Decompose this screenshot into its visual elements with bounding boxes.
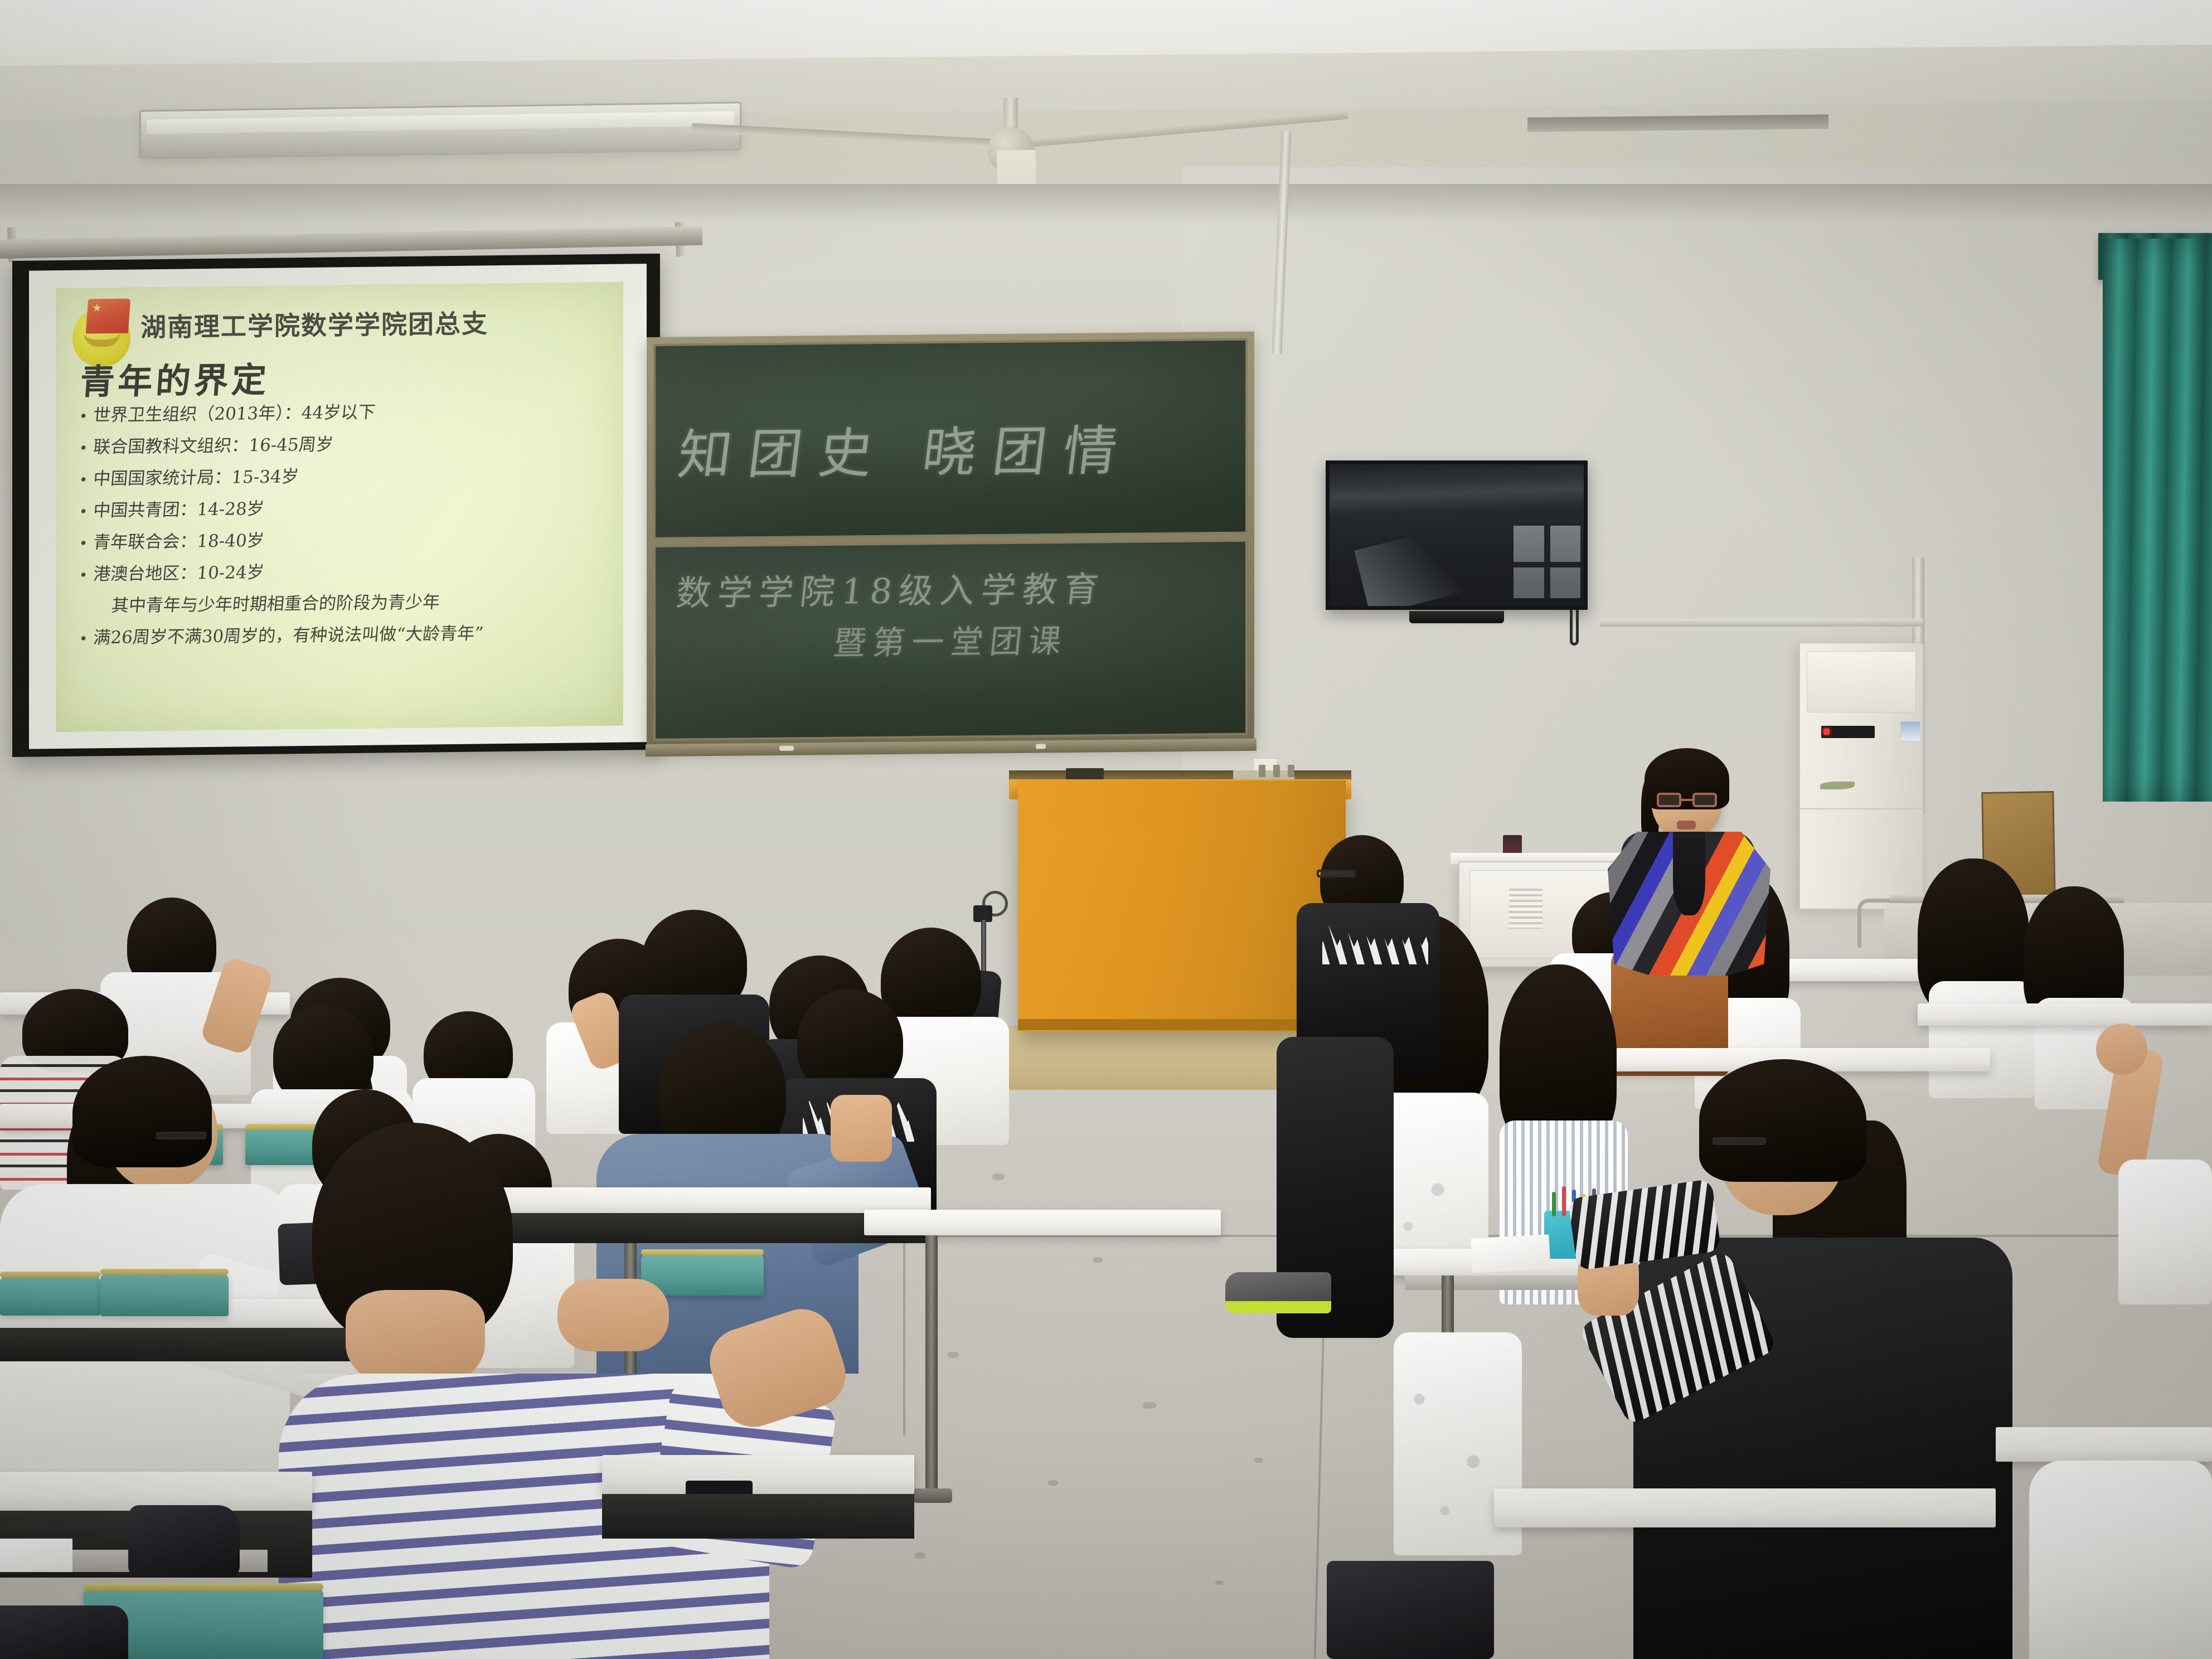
classroom-photo-scene: 湖南理工学院数学学院团总支 青年的界定 世界卫生组织（2013年）：44岁以下联… (0, 0, 2212, 1659)
slide-bullet-item: 联合国教科文组织：16-45周岁 (79, 433, 610, 457)
eyeglasses-icon (156, 1132, 206, 1139)
tv-reflection (1354, 525, 1473, 606)
screen-surface: 湖南理工学院数学学院团总支 青年的界定 世界卫生组织（2013年）：44岁以下联… (29, 264, 647, 749)
ac-intake-grille (1807, 651, 1916, 712)
blackboard: 知团史 晓团情 数学学院18级入学教育 暨第一堂团课 (647, 332, 1254, 750)
slide-bullet-item: 满26周岁不满30周岁的，有种说法叫做“大龄青年” (79, 624, 610, 647)
slide-header-text: 湖南理工学院数学学院团总支 (140, 303, 488, 344)
presenter-shawl (1608, 832, 1770, 976)
desk (1494, 1488, 1996, 1527)
tv-screen (1330, 464, 1584, 606)
slide-bullet-item: 港澳台地区：10-24岁 (79, 560, 610, 584)
blackboard-subline-2-text: 暨第一堂团课 (832, 615, 1071, 664)
console-vent-grille (1509, 889, 1542, 929)
window-curtain[interactable] (2103, 239, 2212, 802)
eyeglasses-icon (1713, 1137, 1766, 1145)
lectern-item-marker[interactable] (1288, 765, 1294, 777)
floor-standing-air-conditioner[interactable] (1799, 642, 1924, 910)
chalk-piece[interactable] (1036, 744, 1046, 749)
wall-mounted-tv[interactable] (1326, 460, 1588, 610)
desk (1918, 1003, 2212, 1026)
seat[interactable] (0, 1277, 100, 1316)
slide-bullet-item: 其中青年与少年时期相重合的阶段为青少年 (79, 592, 610, 615)
pen[interactable] (1552, 1192, 1556, 1216)
ac-display-panel (1821, 726, 1875, 738)
slide-bullet-item: 中国国家统计局：15-34岁 (79, 465, 610, 488)
fluorescent-light-fixture-icon (139, 101, 741, 159)
paper-sheet[interactable] (1471, 1234, 1550, 1273)
ac-power-led-icon (1823, 729, 1830, 735)
lectern-item-marker[interactable] (1259, 765, 1265, 777)
eyeglasses-icon (1317, 870, 1356, 877)
student (2029, 1461, 2212, 1659)
desk-foot (913, 1488, 952, 1503)
backpack[interactable] (1327, 1561, 1494, 1659)
wall-conduit-horizontal (1600, 619, 1923, 627)
chalk-piece[interactable] (779, 746, 794, 751)
jacket-on-floor[interactable] (0, 1605, 128, 1659)
slide-bullet-item: 中国共青团：14-28岁 (79, 497, 610, 520)
ac-panel-seam (1800, 808, 1923, 809)
seat[interactable] (100, 1274, 229, 1316)
tv-window-reflection (1514, 526, 1580, 598)
slide-bullet-item: 青年联合会：18-40岁 (79, 528, 610, 552)
desk-front-panel (602, 1494, 914, 1539)
slide-bullet-list: 世界卫生组织（2013年）：44岁以下联合国教科文组织：16-45周岁中国国家统… (79, 401, 609, 662)
pen[interactable] (1562, 1186, 1566, 1216)
wall-shadow (0, 184, 2212, 223)
tv-mount-base (1409, 611, 1504, 623)
slide-bullet-item: 世界卫生组织（2013年）：44岁以下 (79, 401, 610, 425)
tv-cable (1570, 610, 1579, 646)
paper-sheet[interactable] (0, 1539, 72, 1572)
ac-label-sticker (1900, 721, 1920, 741)
presenter-mouth (1677, 821, 1696, 829)
eyeglasses-icon (1657, 793, 1717, 807)
lectern-item-dark[interactable] (1066, 768, 1104, 779)
slide-heading-text: 青年的界定 (79, 352, 271, 404)
blackboard-panel-top: 知团史 晓团情 (653, 338, 1248, 540)
bag[interactable] (128, 1505, 240, 1578)
desk-leg (925, 1235, 938, 1492)
desk (1996, 1427, 2212, 1462)
projection-screen[interactable]: 湖南理工学院数学学院团总支 青年的界定 世界卫生组织（2013年）：44岁以下联… (12, 254, 660, 757)
sneaker (1225, 1272, 1331, 1313)
blackboard-panel-bottom: 数学学院18级入学教育 暨第一堂团课 (653, 540, 1248, 741)
projected-slide: 湖南理工学院数学学院团总支 青年的界定 世界卫生组织（2013年）：44岁以下联… (56, 282, 623, 733)
blackboard-headline-text: 知团史 晓团情 (674, 408, 1139, 489)
desk (602, 1455, 914, 1494)
ac-decal (1820, 782, 1855, 789)
lectern-item-marker[interactable] (1273, 765, 1280, 777)
desk (864, 1210, 1221, 1235)
blackboard-subline-1-text: 数学学院18级入学教育 (674, 561, 1108, 615)
